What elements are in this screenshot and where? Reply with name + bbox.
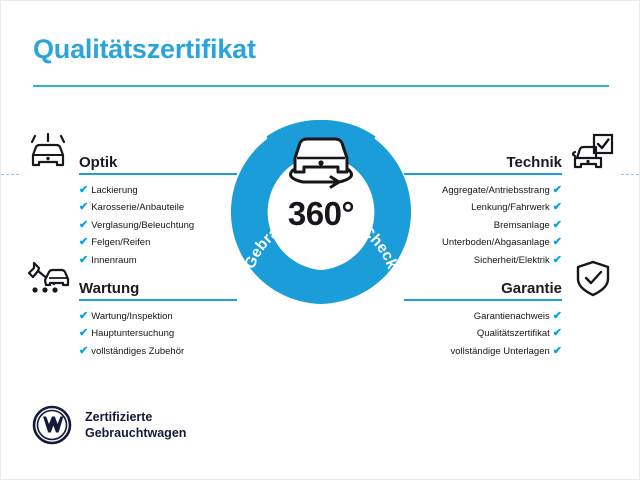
check-icon: ✔ [79, 310, 88, 322]
section-wartung-underline [79, 299, 237, 301]
section-optik-title: Optik [79, 154, 117, 171]
check-icon: ✔ [553, 254, 562, 266]
check-icon: ✔ [79, 236, 88, 248]
section-garantie-items: Garantienachweis✔ Qualitätszertifikat✔ v… [404, 308, 562, 360]
list-item: ✔vollständiges Zubehör [79, 343, 237, 360]
car-wrench-icon [25, 259, 71, 299]
list-item-label: vollständige Unterlagen [450, 346, 549, 357]
check-icon: ✔ [79, 201, 88, 213]
section-garantie-underline [404, 299, 562, 301]
footer-branding: Zertifizierte Gebrauchtwagen [32, 405, 186, 445]
check-icon: ✔ [79, 254, 88, 266]
title-divider [33, 85, 609, 87]
section-garantie-header: Garantie [404, 273, 562, 301]
connector-line-right [621, 174, 639, 175]
check-icon: ✔ [553, 219, 562, 231]
list-item-label: Wartung/Inspektion [91, 311, 173, 322]
section-technik-items: Aggregate/Antriebsstrang✔ Lenkung/Fahrwe… [404, 182, 562, 269]
list-item-label: Bremsanlage [494, 220, 550, 231]
check-icon: ✔ [553, 201, 562, 213]
list-item: Sicherheit/Elektrik✔ [404, 252, 562, 269]
list-item: ✔Wartung/Inspektion [79, 308, 237, 325]
connector-line-left [1, 174, 19, 175]
check-icon: ✔ [79, 345, 88, 357]
list-item-label: Hauptuntersuchung [91, 328, 174, 339]
section-optik: Optik ✔Lackierung ✔Karosserie/Anbauteile… [79, 147, 237, 269]
list-item-label: Verglasung/Beleuchtung [91, 220, 194, 231]
list-item: Garantienachweis✔ [404, 308, 562, 325]
section-technik-header: Technik [404, 147, 562, 175]
section-technik-title: Technik [506, 154, 562, 171]
list-item: ✔Verglasung/Beleuchtung [79, 217, 237, 234]
certificate-page: Qualitätszertifikat Optik ✔Lackierung ✔K… [0, 0, 640, 480]
section-optik-items: ✔Lackierung ✔Karosserie/Anbauteile ✔Verg… [79, 182, 237, 269]
volkswagen-logo [32, 405, 72, 445]
section-optik-underline [79, 173, 237, 175]
footer-text: Zertifizierte Gebrauchtwagen [85, 409, 186, 441]
list-item: ✔Innenraum [79, 252, 237, 269]
list-item: ✔Hauptuntersuchung [79, 325, 237, 342]
check-icon: ✔ [79, 327, 88, 339]
check-icon: ✔ [79, 219, 88, 231]
list-item: ✔Lackierung [79, 182, 237, 199]
shield-check-icon [571, 259, 617, 299]
section-garantie: Garantie Garantienachweis✔ Qualitätszert… [404, 273, 562, 360]
section-wartung: Wartung ✔Wartung/Inspektion ✔Hauptunters… [79, 273, 237, 360]
page-title: Qualitätszertifikat [33, 34, 256, 65]
section-wartung-header: Wartung [79, 273, 237, 301]
list-item-label: Karosserie/Anbauteile [91, 202, 184, 213]
list-item-label: Lenkung/Fahrwerk [471, 202, 550, 213]
check-icon: ✔ [79, 184, 88, 196]
badge-360-gebrauchtwagen-check: Gebrauchtwagen-Check 360° [229, 120, 413, 304]
section-garantie-title: Garantie [501, 280, 562, 297]
list-item: Aggregate/Antriebsstrang✔ [404, 182, 562, 199]
list-item: Unterboden/Abgasanlage✔ [404, 234, 562, 251]
list-item-label: Aggregate/Antriebsstrang [442, 185, 550, 196]
check-icon: ✔ [553, 184, 562, 196]
car-checklist-icon [569, 132, 615, 172]
list-item: Lenkung/Fahrwerk✔ [404, 199, 562, 216]
section-wartung-items: ✔Wartung/Inspektion ✔Hauptuntersuchung ✔… [79, 308, 237, 360]
section-optik-header: Optik [79, 147, 237, 175]
car-shine-icon [25, 133, 71, 173]
list-item-label: Sicherheit/Elektrik [474, 255, 550, 266]
section-wartung-title: Wartung [79, 280, 139, 297]
section-technik: Technik Aggregate/Antriebsstrang✔ Lenkun… [404, 147, 562, 269]
list-item-label: Innenraum [91, 255, 136, 266]
list-item-label: Unterboden/Abgasanlage [442, 237, 550, 248]
list-item-label: vollständiges Zubehör [91, 346, 184, 357]
check-icon: ✔ [553, 236, 562, 248]
list-item-label: Garantienachweis [474, 311, 550, 322]
list-item: Bremsanlage✔ [404, 217, 562, 234]
check-icon: ✔ [553, 345, 562, 357]
badge-center-label: 360° [229, 120, 413, 304]
list-item: Qualitätszertifikat✔ [404, 325, 562, 342]
footer-line-2: Gebrauchtwagen [85, 425, 186, 441]
list-item: vollständige Unterlagen✔ [404, 343, 562, 360]
list-item-label: Lackierung [91, 185, 137, 196]
footer-line-1: Zertifizierte [85, 409, 186, 425]
check-icon: ✔ [553, 327, 562, 339]
list-item: ✔Karosserie/Anbauteile [79, 199, 237, 216]
check-icon: ✔ [553, 310, 562, 322]
list-item-label: Felgen/Reifen [91, 237, 150, 248]
list-item-label: Qualitätszertifikat [477, 328, 550, 339]
section-technik-underline [404, 173, 562, 175]
list-item: ✔Felgen/Reifen [79, 234, 237, 251]
